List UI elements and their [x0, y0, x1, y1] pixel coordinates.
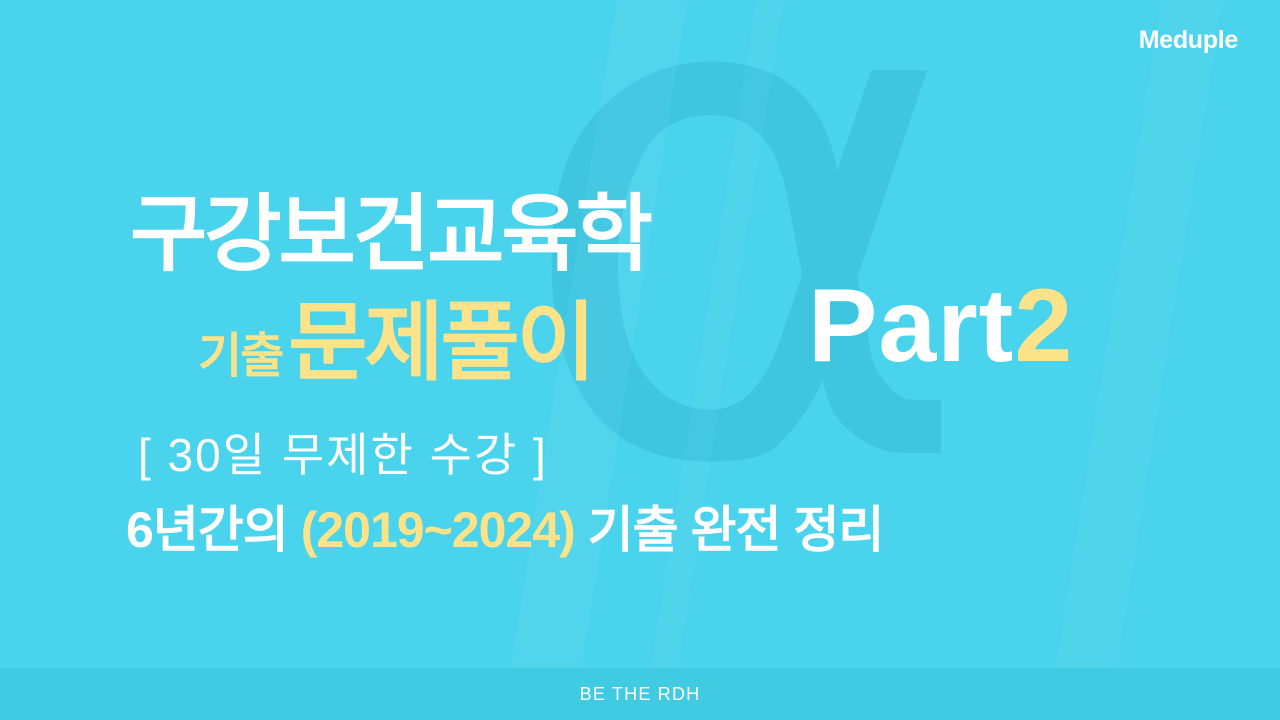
- coverage-prefix-label: 6년간의: [126, 502, 301, 558]
- part-number-label: 2: [1014, 268, 1073, 384]
- footer-band: BE THE RDH: [0, 668, 1280, 720]
- part-badge: Part2: [808, 274, 1073, 378]
- subtitle-row: 기출 문제풀이: [198, 300, 593, 386]
- coverage-suffix-label: 기출 완전 정리: [575, 502, 884, 558]
- duration-note: [ 30일 무제한 수강 ]: [138, 432, 548, 478]
- subtitle-large-label: 문제풀이: [288, 300, 592, 386]
- coverage-year-range-label: (2019~2024): [301, 502, 575, 558]
- course-thumbnail-slide: α Meduple 구강보건교육학 기출 문제풀이 Part2 [ 30일 무제…: [0, 0, 1280, 720]
- subtitle-small-label: 기출: [198, 333, 282, 381]
- coverage-note: 6년간의 (2019~2024) 기출 완전 정리: [126, 505, 883, 555]
- part-word-label: Part: [808, 268, 1014, 384]
- headline-block: 구강보건교육학 기출 문제풀이 Part2 [ 30일 무제한 수강 ] 6년간…: [0, 0, 1280, 720]
- footer-tagline: BE THE RDH: [580, 684, 701, 705]
- page-title: 구강보건교육학: [130, 192, 650, 276]
